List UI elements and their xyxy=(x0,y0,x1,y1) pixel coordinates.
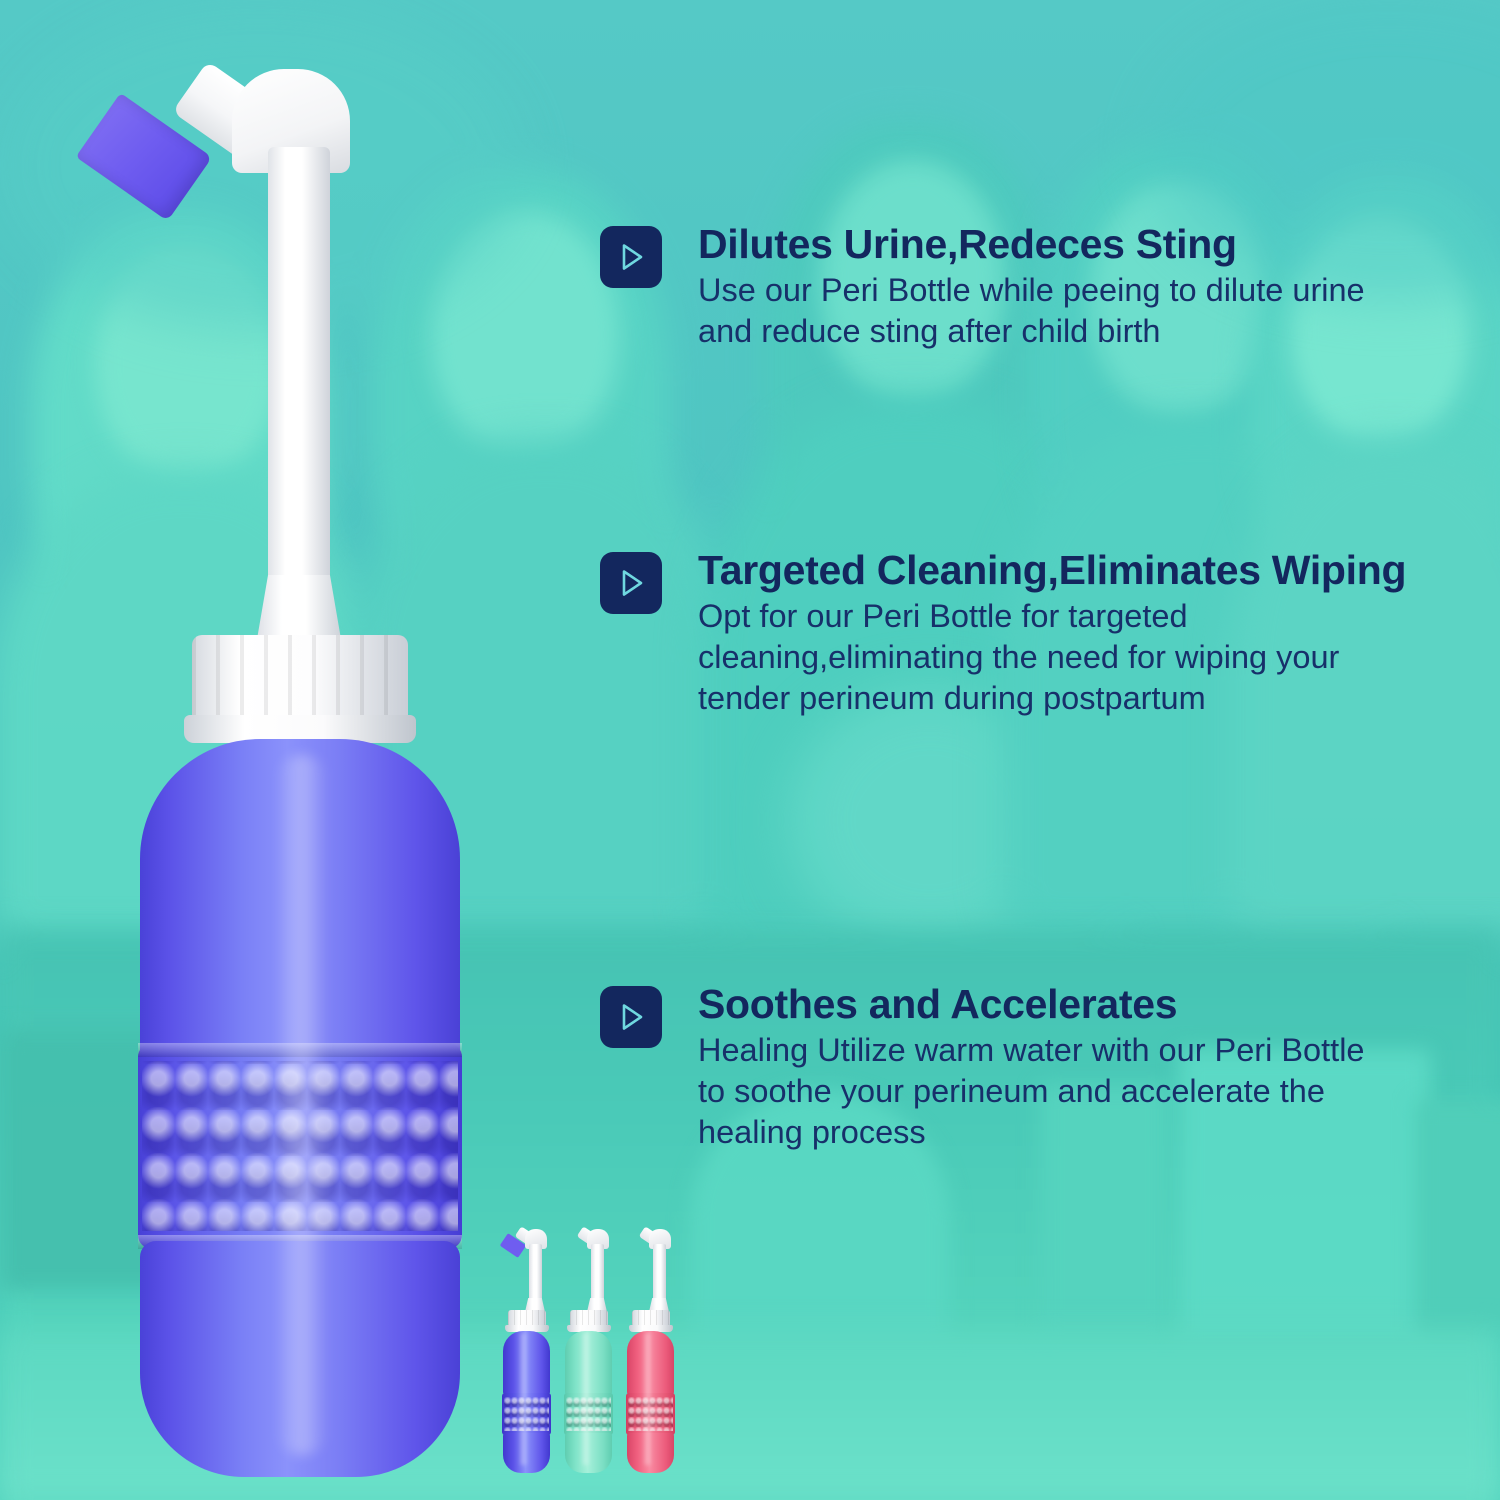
feature-description-2: Opt for our Peri Bottle for targeted cle… xyxy=(698,596,1400,720)
feature-item-1: Dilutes Urine,Redeces Sting Use our Peri… xyxy=(600,222,1400,352)
variant-bottle-pink xyxy=(624,1228,676,1473)
feature-title-2: Targeted Cleaning,Eliminates Wiping xyxy=(698,548,1418,594)
variant-bottle-blue xyxy=(500,1228,552,1473)
variant-highlight xyxy=(581,1333,590,1465)
feature-text-3: Soothes and Accelerates Healing Utilize … xyxy=(698,982,1400,1154)
feature-text-2: Targeted Cleaning,Eliminates Wiping Opt … xyxy=(698,548,1400,720)
variant-highlight xyxy=(643,1333,652,1465)
bottle-straw xyxy=(268,147,330,627)
bottle-screw-cap xyxy=(192,635,408,721)
play-triangle-icon xyxy=(600,226,662,288)
variant-straw xyxy=(529,1244,542,1306)
variant-highlight xyxy=(519,1333,528,1465)
feature-description-3: Healing Utilize warm water with our Peri… xyxy=(698,1030,1400,1154)
variant-straw xyxy=(591,1244,604,1306)
color-variant-row xyxy=(500,1228,680,1473)
feature-list: Dilutes Urine,Redeces Sting Use our Peri… xyxy=(600,0,1430,1500)
play-triangle-icon xyxy=(600,552,662,614)
feature-title-3: Soothes and Accelerates xyxy=(698,982,1400,1028)
variant-bottle-mint xyxy=(562,1228,614,1473)
feature-text-1: Dilutes Urine,Redeces Sting Use our Peri… xyxy=(698,222,1400,352)
peri-bottle-hero xyxy=(80,55,500,1455)
feature-description-1: Use our Peri Bottle while peeing to dilu… xyxy=(698,270,1400,353)
feature-item-2: Targeted Cleaning,Eliminates Wiping Opt … xyxy=(600,548,1400,720)
product-feature-image: Dilutes Urine,Redeces Sting Use our Peri… xyxy=(0,0,1500,1500)
feature-title-1: Dilutes Urine,Redeces Sting xyxy=(698,222,1400,268)
variant-straw xyxy=(653,1244,666,1306)
play-triangle-icon xyxy=(600,986,662,1048)
bottle-highlight xyxy=(276,755,328,1455)
feature-item-3: Soothes and Accelerates Healing Utilize … xyxy=(600,982,1400,1154)
